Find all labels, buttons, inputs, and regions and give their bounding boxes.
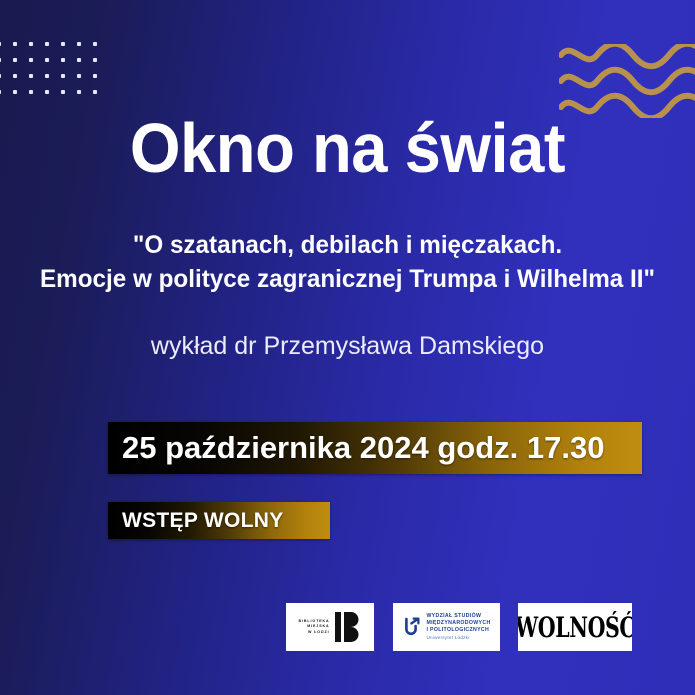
dot-grid-decoration [0,36,103,100]
wavy-lines-icon [559,44,695,118]
faculty-logo-line-3: I POLITOLOGICZNYCH [426,627,490,634]
grid-dot [13,42,17,46]
grid-dot [61,74,65,78]
grid-dot [93,74,97,78]
page-title: Okno na świat [24,110,670,186]
grid-dot [29,58,33,62]
faculty-logo-line-1: WYDZIAŁ STUDIÓW [426,613,490,620]
grid-dot [13,90,17,94]
wolnosc-logo-label: WOLNOŚĆ [518,612,632,642]
grid-dot [45,90,49,94]
logo-biblioteka-miejska: BIBLIOTEKA MIEJSKA W ŁODZI [286,603,374,651]
grid-dot [13,58,17,62]
grid-dot [0,90,1,94]
wavy-lines-decoration [559,44,695,118]
library-logo-line-3: W ŁODZI [299,630,330,635]
grid-dot [61,90,65,94]
grid-dot [61,58,65,62]
grid-dot [0,58,1,62]
logo-wolnosc: WOLNOŚĆ [518,603,632,651]
lecturer-line: wykład dr Przemysława Damskiego [0,330,695,362]
grid-dot [77,90,81,94]
grid-dot [45,58,49,62]
logo-wydzial-studiow: WYDZIAŁ STUDIÓW MIĘDZYNARODOWYCH I POLIT… [393,603,500,651]
grid-dot [29,74,33,78]
admission-banner-label: WSTĘP WOLNY [122,509,284,533]
arrow-u-mark-icon [404,617,421,637]
admission-banner: WSTĘP WOLNY [108,502,330,539]
grid-dot [0,74,1,78]
faculty-logo-subtitle: Uniwersytet Łódzki [426,634,490,642]
logo-strip: BIBLIOTEKA MIEJSKA W ŁODZI [286,603,632,651]
faculty-logo-line-2: MIĘDZYNARODOWYCH [426,620,490,627]
subtitle-block: "O szatanach, debilach i mięczakach. Emo… [0,228,695,296]
event-poster: Okno na świat "O szatanach, debilach i m… [0,0,695,695]
subtitle-line-1: "O szatanach, debilach i mięczakach. [10,228,684,262]
letter-b-mark-icon [335,612,361,642]
grid-dot [93,90,97,94]
subtitle-line-2: Emocje w polityce zagranicznej Trumpa i … [10,262,684,296]
grid-dot [29,90,33,94]
grid-dot [45,42,49,46]
grid-dot [77,74,81,78]
grid-dot [13,74,17,78]
grid-dot [61,42,65,46]
grid-dot [0,42,1,46]
grid-dot [93,58,97,62]
grid-dot [77,42,81,46]
date-banner: 25 października 2024 godz. 17.30 [108,422,642,474]
grid-dot [77,58,81,62]
date-banner-label: 25 października 2024 godz. 17.30 [122,431,604,465]
grid-dot [45,74,49,78]
headline-block: Okno na świat [0,110,695,186]
grid-dot [29,42,33,46]
grid-dot [93,42,97,46]
